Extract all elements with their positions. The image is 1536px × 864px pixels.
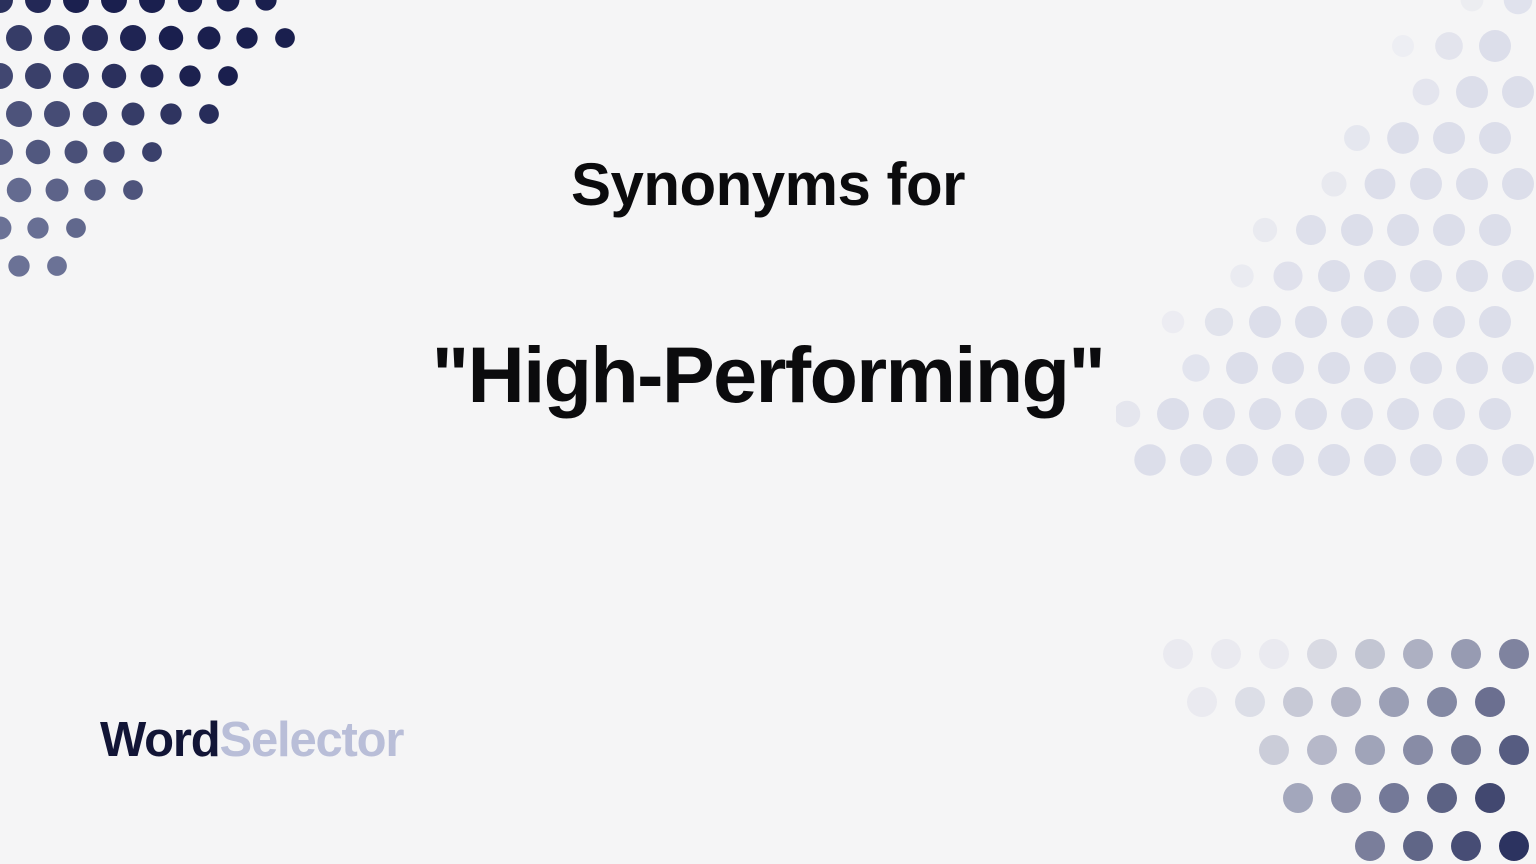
brand-logo: WordSelector bbox=[100, 716, 403, 765]
brand-logo-selector: Selector bbox=[220, 713, 404, 767]
poster-canvas: Synonyms for "High-Performing" WordSelec… bbox=[0, 0, 1536, 864]
hero-eyebrow: Synonyms for bbox=[0, 150, 1536, 219]
hero-headline: "High-Performing" bbox=[0, 330, 1536, 421]
brand-logo-word: Word bbox=[100, 713, 220, 767]
